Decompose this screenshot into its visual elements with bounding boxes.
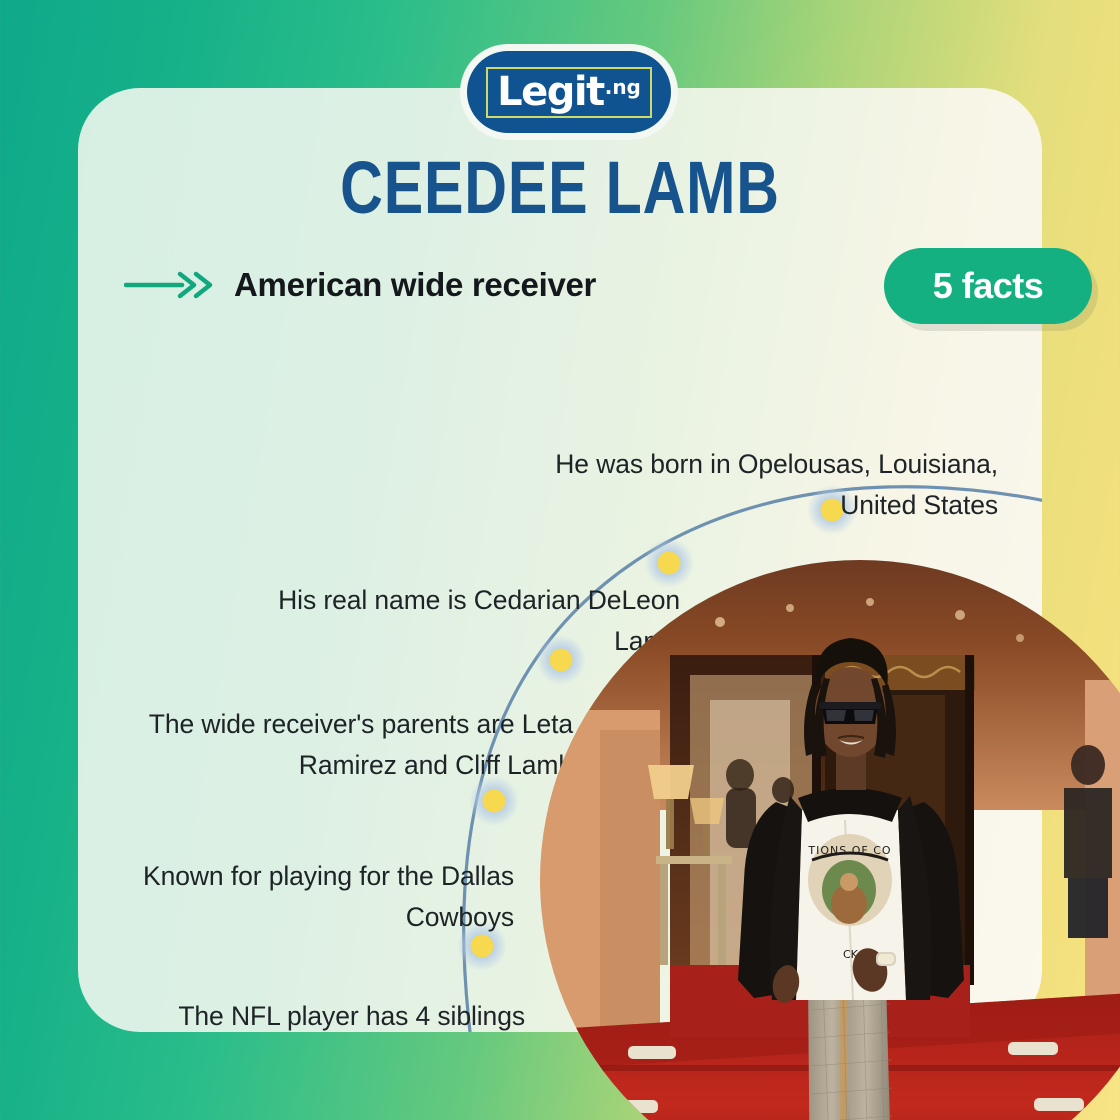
facts-count-badge: 5 facts bbox=[884, 248, 1092, 324]
subtitle-row: American wide receiver bbox=[124, 266, 596, 304]
ceedee-lamb-photo: TIONS OF CO CK bbox=[540, 560, 1120, 1120]
double-chevron-right-arrow-icon bbox=[124, 270, 216, 300]
fact-item: The wide receiver's parents are Leta Ram… bbox=[118, 704, 573, 786]
svg-text:TIONS OF CO: TIONS OF CO bbox=[807, 844, 891, 857]
subtitle-text: American wide receiver bbox=[234, 266, 596, 304]
logo-suffix: .ng bbox=[605, 77, 641, 97]
logo-pill: Legit .ng bbox=[460, 44, 678, 140]
logo-box: Legit .ng bbox=[486, 67, 652, 118]
photo-illustration: TIONS OF CO CK bbox=[540, 560, 1120, 1120]
fact-item: The NFL player has 4 siblings bbox=[98, 996, 525, 1032]
page-title: CEEDEE LAMB bbox=[174, 151, 945, 225]
facts-count-label: 5 facts bbox=[933, 265, 1044, 307]
fact-item: He was born in Opelousas, Louisiana, Uni… bbox=[508, 444, 998, 526]
legit-ng-logo[interactable]: Legit .ng bbox=[460, 44, 678, 140]
logo-text: Legit bbox=[497, 72, 604, 112]
fact-item: Known for playing for the Dallas Cowboys bbox=[118, 856, 514, 938]
